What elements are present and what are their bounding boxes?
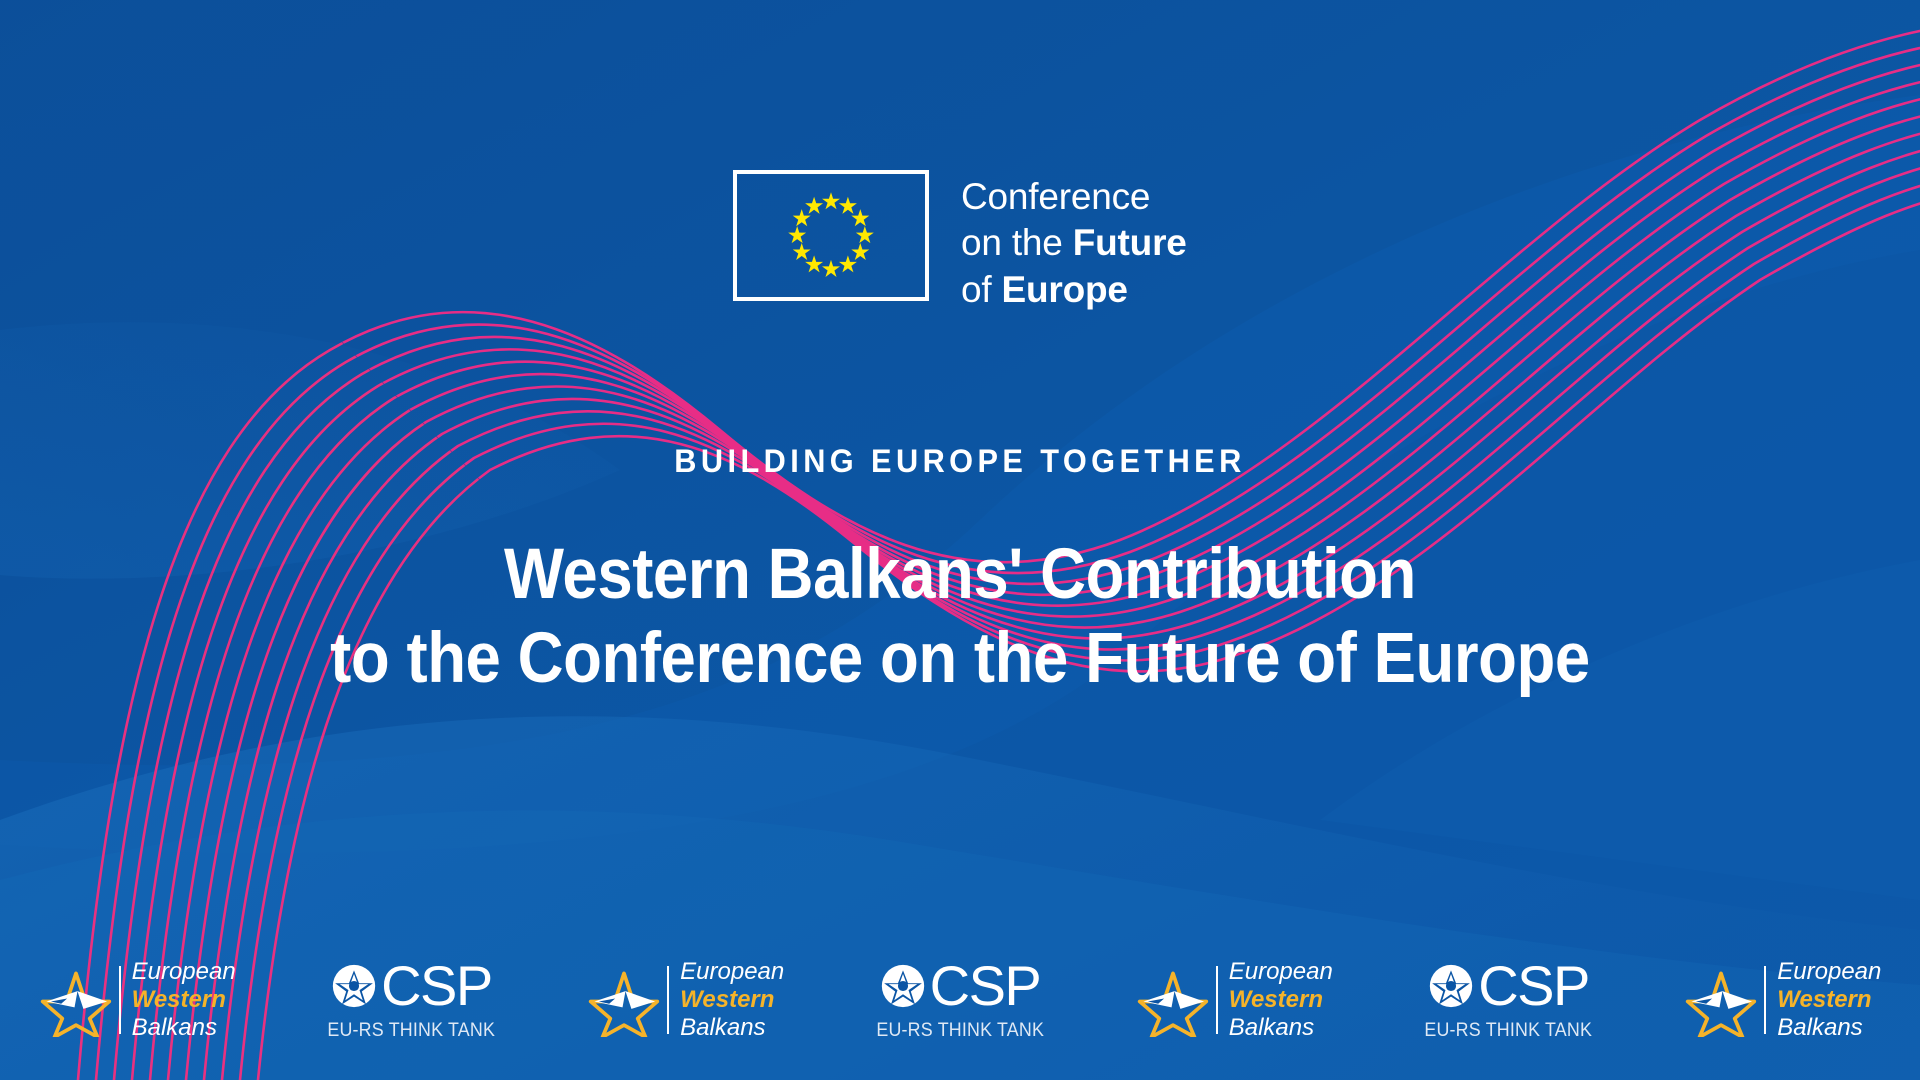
csp-logo[interactable]: CSP EU-RS THINK TANK — [871, 958, 1049, 1042]
partner-logo-slot[interactable]: CSP EU-RS THINK TANK — [1371, 920, 1645, 1080]
csp-acronym: CSP — [381, 958, 492, 1014]
csp-star-circle-icon — [880, 963, 926, 1009]
ewb-word-3: Balkans — [680, 1014, 784, 1042]
partner-logo-slot[interactable]: European Western Balkans — [549, 920, 823, 1080]
ewb-word-1: European — [1229, 958, 1333, 986]
ewb-word-2: Western — [132, 986, 236, 1014]
page-title-line1: Western Balkans' Contribution — [101, 533, 1819, 617]
ewb-word-2: Western — [1229, 986, 1333, 1014]
csp-star-circle-icon — [1428, 963, 1474, 1009]
ewb-wordmark: European Western Balkans — [680, 958, 784, 1042]
ewb-word-3: Balkans — [1777, 1014, 1881, 1042]
ewb-word-1: European — [132, 958, 236, 986]
ewb-word-3: Balkans — [1229, 1014, 1333, 1042]
star-swoosh-icon — [1136, 963, 1210, 1037]
european-western-balkans-logo[interactable]: European Western Balkans — [39, 958, 236, 1042]
conference-future-europe-logo: Conference on the Future of Europe — [733, 170, 1187, 313]
star-swoosh-icon — [587, 963, 661, 1037]
logo-divider — [1764, 966, 1766, 1034]
ewb-word-2: Western — [1777, 986, 1881, 1014]
cofoe-line1: Conference — [961, 176, 1150, 217]
eyebrow-tagline: BUILDING EUROPE TOGETHER — [38, 443, 1881, 480]
logo-divider — [1216, 966, 1218, 1034]
partner-logo-slot[interactable]: CSP EU-RS THINK TANK — [274, 920, 548, 1080]
partner-logo-slot[interactable]: European Western Balkans — [1097, 920, 1371, 1080]
csp-logo[interactable]: CSP EU-RS THINK TANK — [1419, 958, 1597, 1042]
page-title: Western Balkans' Contribution to the Con… — [101, 533, 1819, 702]
european-western-balkans-logo[interactable]: European Western Balkans — [1684, 958, 1881, 1042]
presentation-slide: Conference on the Future of Europe BUILD… — [0, 0, 1920, 1080]
csp-tagline: EU-RS THINK TANK — [328, 1020, 496, 1042]
ewb-wordmark: European Western Balkans — [132, 958, 236, 1042]
partner-logo-slot[interactable]: European Western Balkans — [1646, 920, 1920, 1080]
cofoe-line3-light: of — [961, 269, 1002, 310]
european-western-balkans-logo[interactable]: European Western Balkans — [587, 958, 784, 1042]
cofoe-line2-light: on the — [961, 222, 1073, 263]
european-union-flag-icon — [733, 170, 929, 301]
ewb-wordmark: European Western Balkans — [1229, 958, 1333, 1042]
partner-logo-slot[interactable]: CSP EU-RS THINK TANK — [823, 920, 1097, 1080]
logo-divider — [667, 966, 669, 1034]
logo-divider — [119, 966, 121, 1034]
star-swoosh-icon — [39, 963, 113, 1037]
csp-acronym: CSP — [930, 958, 1041, 1014]
cofoe-line3-bold: Europe — [1002, 269, 1128, 310]
csp-star-circle-icon — [331, 963, 377, 1009]
cofoe-wordmark: Conference on the Future of Europe — [961, 170, 1187, 313]
partner-logo-strip: European Western Balkans — [0, 920, 1920, 1080]
partner-logo-slot[interactable]: European Western Balkans — [0, 920, 274, 1080]
csp-logo[interactable]: CSP EU-RS THINK TANK — [322, 958, 500, 1042]
csp-tagline: EU-RS THINK TANK — [876, 1020, 1044, 1042]
page-title-line2: to the Conference on the Future of Europ… — [101, 617, 1819, 701]
csp-tagline: EU-RS THINK TANK — [1425, 1020, 1593, 1042]
csp-acronym: CSP — [1478, 958, 1589, 1014]
star-swoosh-icon — [1684, 963, 1758, 1037]
european-western-balkans-logo[interactable]: European Western Balkans — [1136, 958, 1333, 1042]
ewb-wordmark: European Western Balkans — [1777, 958, 1881, 1042]
ewb-word-2: Western — [680, 986, 784, 1014]
ewb-word-1: European — [680, 958, 784, 986]
ewb-word-1: European — [1777, 958, 1881, 986]
ewb-word-3: Balkans — [132, 1014, 236, 1042]
cofoe-line2-bold: Future — [1073, 222, 1187, 263]
